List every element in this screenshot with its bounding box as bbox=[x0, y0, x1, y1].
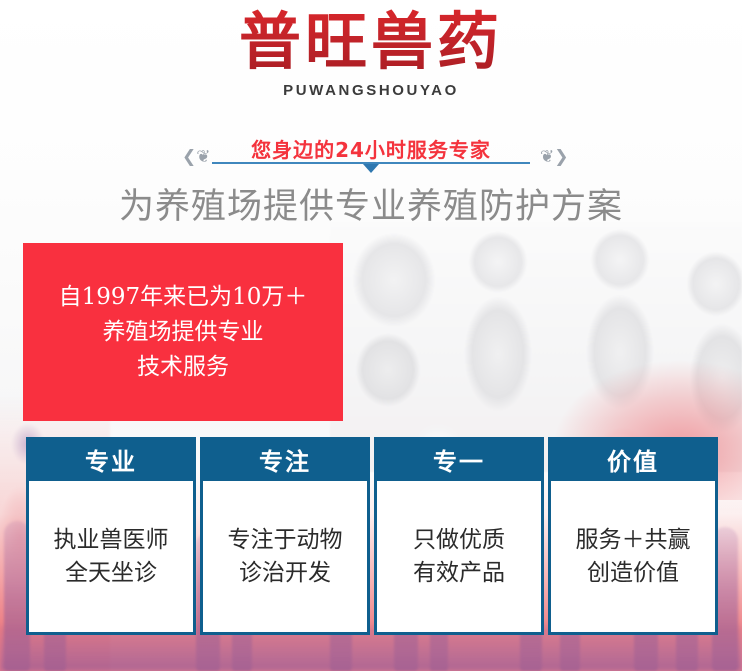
feature-card-title: 价值 bbox=[548, 437, 718, 481]
promo-line: 技术服务 bbox=[137, 350, 229, 385]
feature-card-title: 专注 bbox=[200, 437, 370, 481]
feature-card[interactable]: 专业 执业兽医师 全天坐诊 bbox=[26, 437, 196, 635]
slogan-block: ❮❦ ❦❯ 您身边的24小时服务专家 bbox=[0, 132, 742, 178]
feature-card[interactable]: 价值 服务＋共赢 创造价值 bbox=[548, 437, 718, 635]
feature-card-line: 执业兽医师 bbox=[54, 524, 169, 557]
feature-card-title: 专一 bbox=[374, 437, 544, 481]
slogan-text: 您身边的24小时服务专家 bbox=[0, 134, 742, 163]
page-subtitle: 为养殖场提供专业养殖防护方案 bbox=[0, 178, 742, 229]
brand-block: 普旺兽药 PUWANGSHOUYAO bbox=[0, 6, 742, 99]
feature-card-list: 专业 执业兽医师 全天坐诊 专注 专注于动物 诊治开发 专一 只做优质 有效产品… bbox=[26, 437, 718, 635]
promo-red-box: 自1997年来已为10万＋ 养殖场提供专业 技术服务 bbox=[23, 243, 343, 421]
promo-banner: 普旺兽药 PUWANGSHOUYAO ❮❦ ❦❯ 您身边的24小时服务专家 为养… bbox=[0, 0, 742, 671]
feature-card-body: 服务＋共赢 创造价值 bbox=[548, 481, 718, 635]
feature-card-line: 服务＋共赢 bbox=[576, 524, 691, 557]
brand-name-en: PUWANGSHOUYAO bbox=[0, 82, 742, 99]
feature-card-line: 创造价值 bbox=[587, 557, 679, 590]
promo-line: 自1997年来已为10万＋ bbox=[59, 280, 308, 315]
feature-card-title: 专业 bbox=[26, 437, 196, 481]
feature-card-body: 专注于动物 诊治开发 bbox=[200, 481, 370, 635]
brand-name-cn: 普旺兽药 bbox=[0, 6, 742, 78]
feature-card-line: 专注于动物 bbox=[228, 524, 343, 557]
feature-card-line: 只做优质 bbox=[413, 524, 505, 557]
feature-card-line: 全天坐诊 bbox=[65, 557, 157, 590]
feature-card[interactable]: 专注 专注于动物 诊治开发 bbox=[200, 437, 370, 635]
feature-card[interactable]: 专一 只做优质 有效产品 bbox=[374, 437, 544, 635]
feature-card-line: 有效产品 bbox=[413, 557, 505, 590]
feature-card-body: 只做优质 有效产品 bbox=[374, 481, 544, 635]
feature-card-line: 诊治开发 bbox=[239, 557, 331, 590]
feature-card-body: 执业兽医师 全天坐诊 bbox=[26, 481, 196, 635]
promo-line: 养殖场提供专业 bbox=[103, 315, 264, 350]
caret-down-icon bbox=[363, 164, 379, 173]
